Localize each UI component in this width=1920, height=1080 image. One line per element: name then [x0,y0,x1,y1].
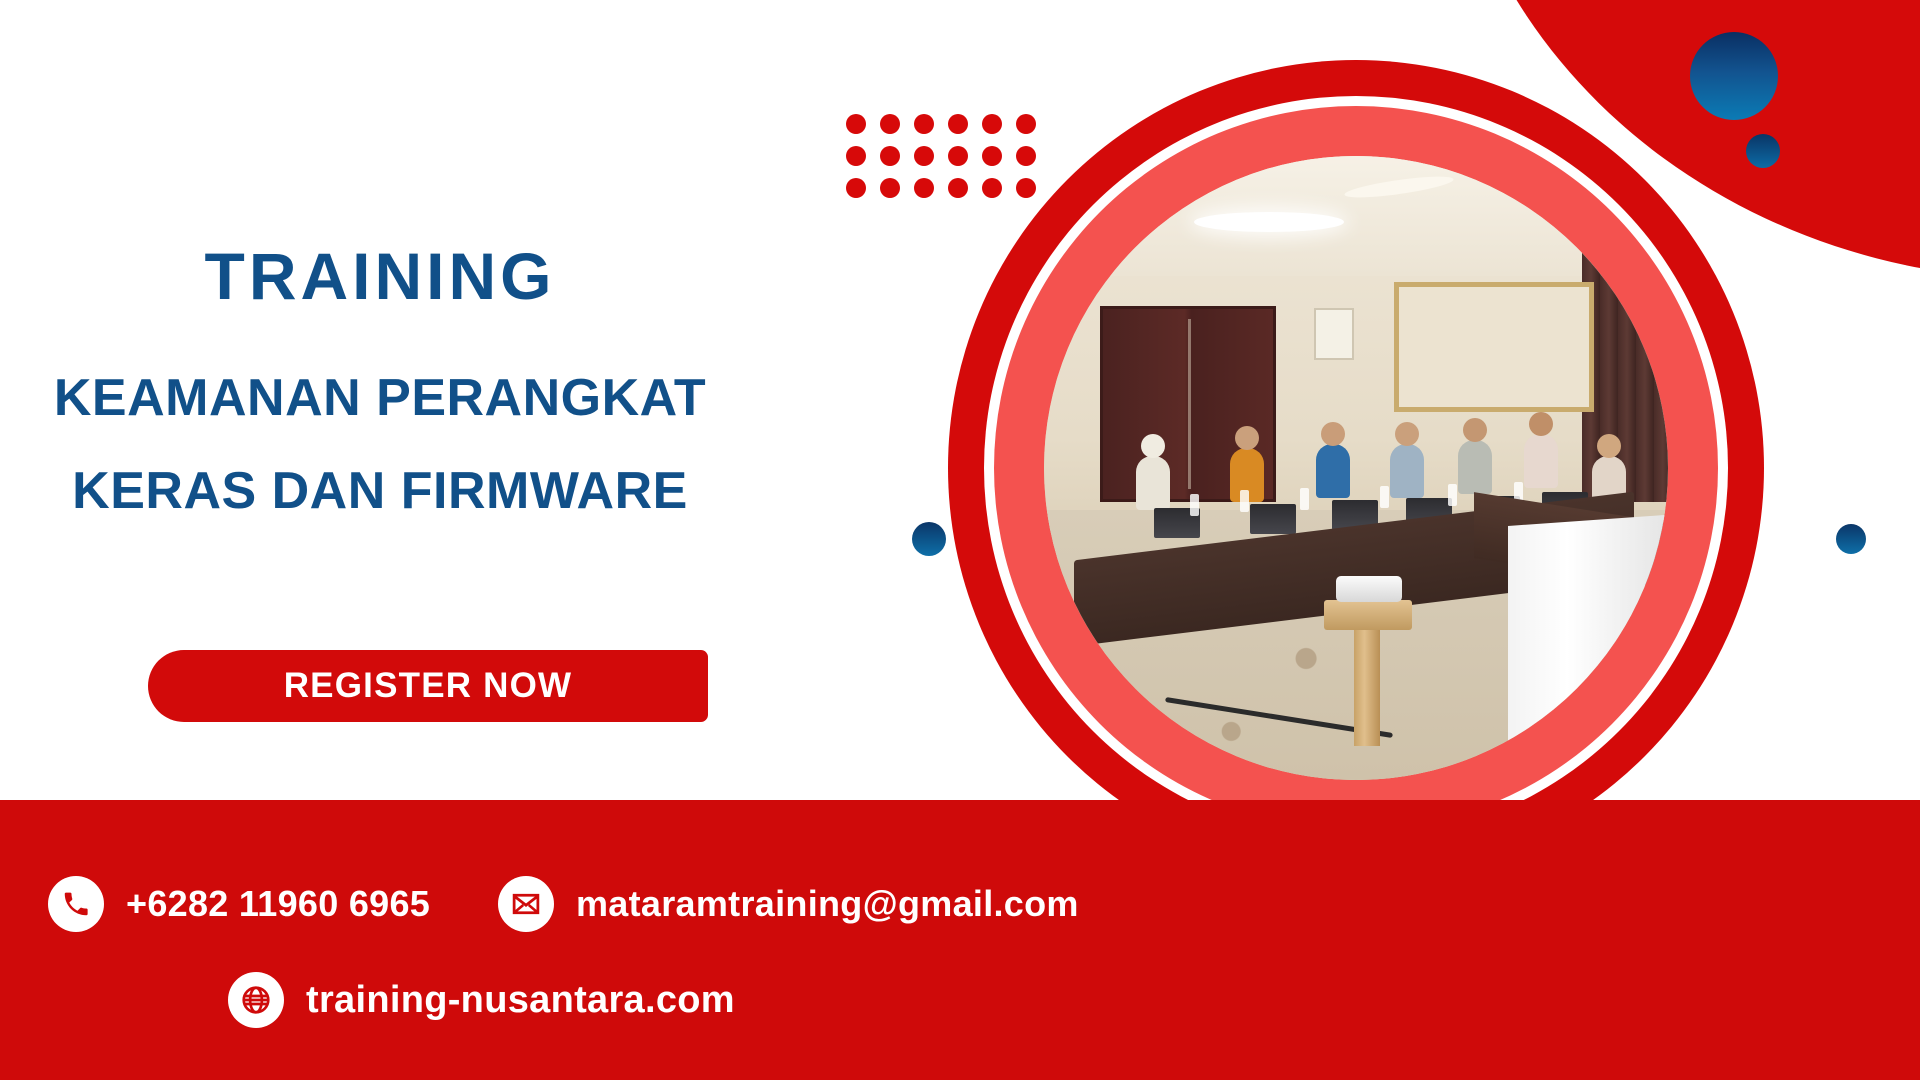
circle-decor-mid-right-icon [1836,524,1866,554]
dot [880,146,900,166]
dot [846,178,866,198]
website-url: training-nusantara.com [306,979,735,1022]
envelope-icon [498,876,554,932]
register-now-button[interactable]: REGISTER NOW [148,650,708,722]
subtitle-line-2: KERAS DAN FIRMWARE [0,465,760,517]
page-title: TRAINING [0,243,760,309]
dot [914,146,934,166]
phone-icon [48,876,104,932]
globe-icon [228,972,284,1028]
photo-frame [948,60,1764,876]
dot [914,114,934,134]
phone-number: +6282 11960 6965 [126,883,430,925]
contact-email[interactable]: mataramtraining@gmail.com [498,876,1079,932]
email-address: mataramtraining@gmail.com [576,883,1079,925]
training-room-photo [1044,156,1668,780]
contact-website[interactable]: training-nusantara.com [228,972,735,1028]
contact-phone[interactable]: +6282 11960 6965 [48,876,430,932]
dot [880,178,900,198]
circle-decor-mid-left-icon [912,522,946,556]
dot [880,114,900,134]
dot [846,146,866,166]
promo-banner: TRAINING KEAMANAN PERANGKAT KERAS DAN FI… [0,0,1920,1080]
subtitle-line-1: KEAMANAN PERANGKAT [0,372,760,424]
dot [914,178,934,198]
dot [846,114,866,134]
contact-band: +6282 11960 6965 mataramtraining@gmail.c… [0,800,1920,1080]
